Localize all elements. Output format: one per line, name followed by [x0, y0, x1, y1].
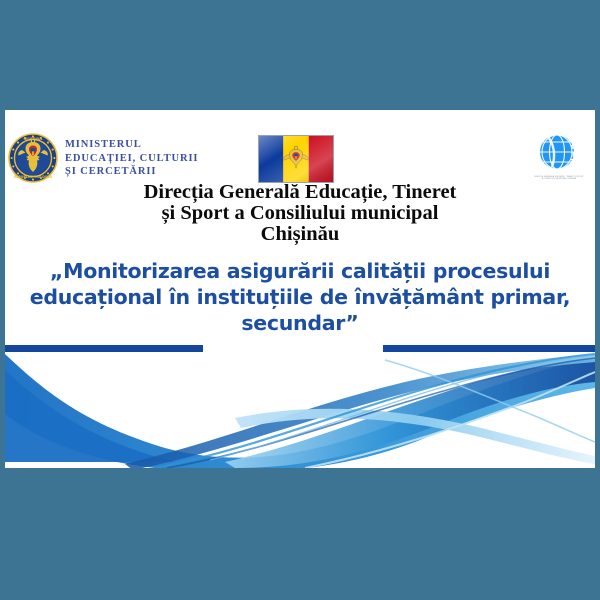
moldova-government-seal-icon: GUVERNUL REPUBLICII MOLDOVA: [8, 133, 58, 183]
svg-text:S: S: [565, 165, 570, 173]
slide-header: GUVERNUL REPUBLICII MOLDOVA MINISTERUL E…: [5, 110, 595, 182]
divider-bar-left: [5, 345, 203, 352]
moldova-flag-icon: [258, 135, 334, 183]
blue-abstract-wave-graphic: [5, 352, 595, 468]
svg-text:T: T: [570, 158, 575, 166]
presentation-title: „Monitorizarea asigurării calității proc…: [23, 258, 577, 336]
slide-canvas: GUVERNUL REPUBLICII MOLDOVA MINISTERUL E…: [0, 0, 600, 600]
divider-bar-right: [383, 345, 595, 352]
svg-text:D: D: [568, 135, 574, 143]
organisation-heading: Direcția Generală Educație, Tineret și S…: [5, 182, 595, 245]
svg-text:G: G: [571, 143, 577, 151]
svg-text:REPUBLICII MOLDOVA: REPUBLICII MOLDOVA: [14, 175, 52, 179]
presentation-slide: GUVERNUL REPUBLICII MOLDOVA MINISTERUL E…: [5, 110, 595, 468]
svg-text:GUVERNUL: GUVERNUL: [23, 137, 42, 141]
ministry-name-label: MINISTERUL EDUCAȚIEI, CULTURII ȘI CERCET…: [65, 138, 198, 179]
